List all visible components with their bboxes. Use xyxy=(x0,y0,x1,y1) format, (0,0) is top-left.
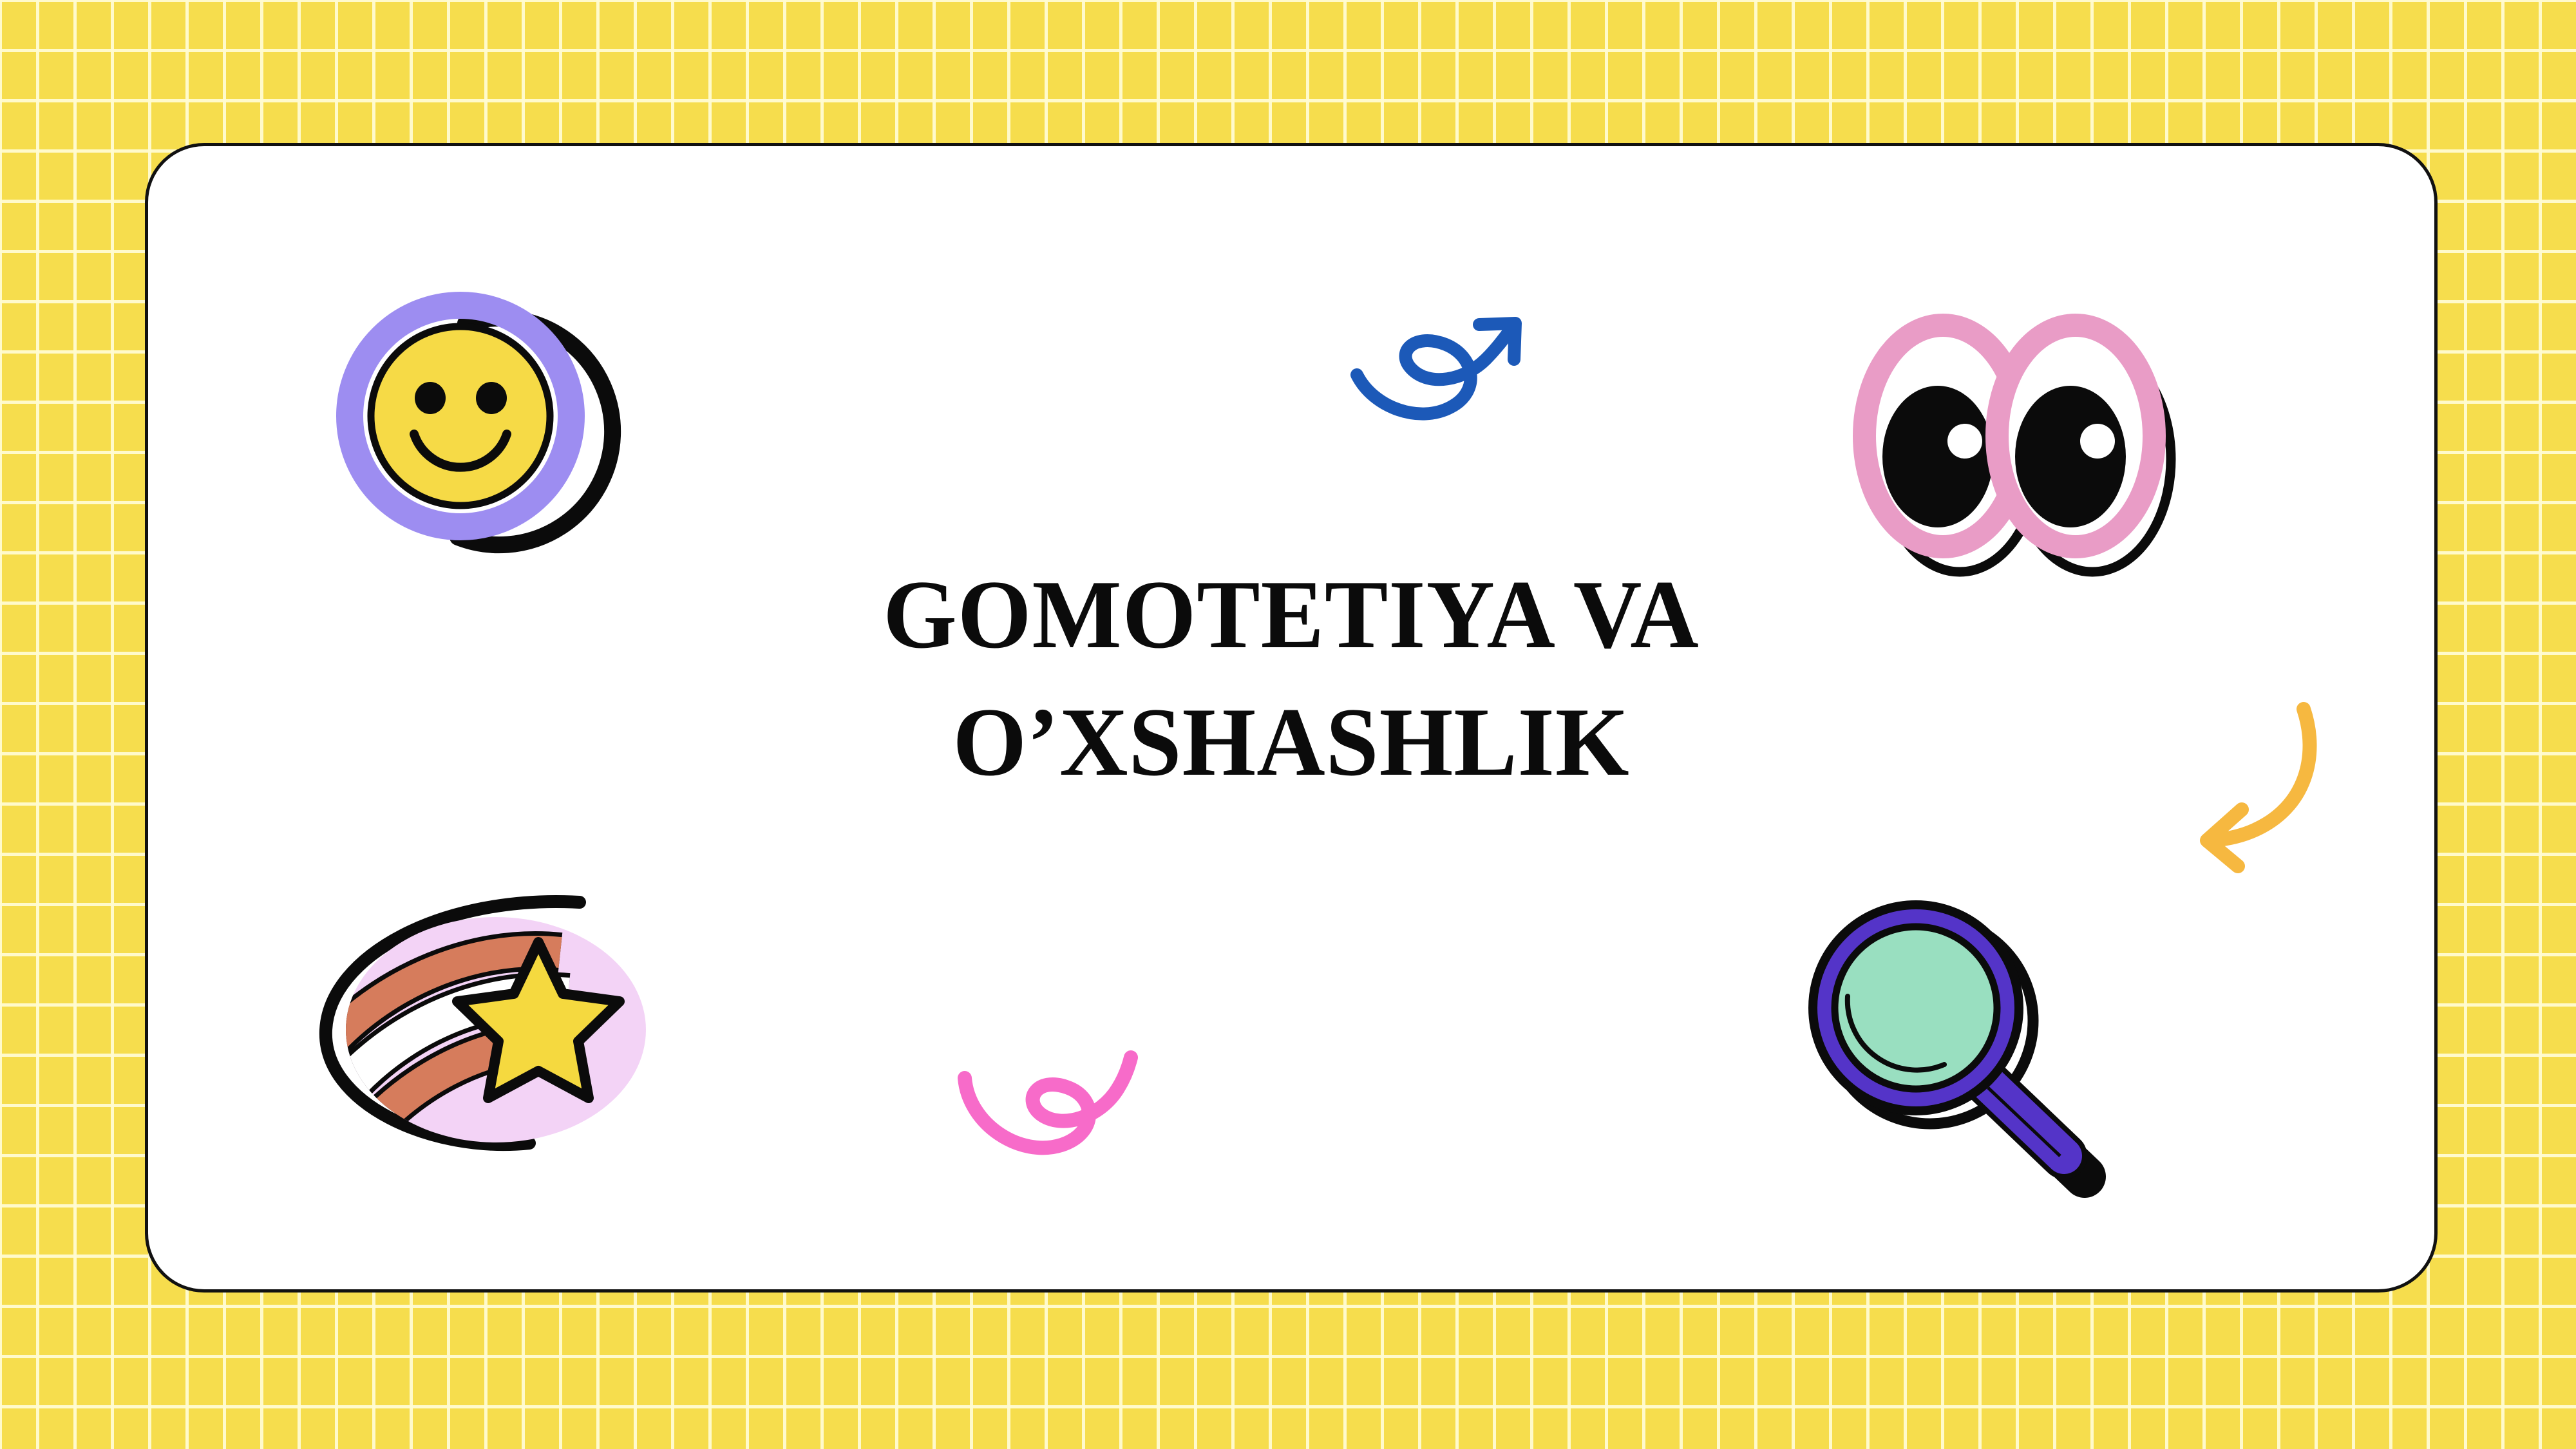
magnifier-lens xyxy=(1835,927,1997,1089)
slide-card: GOMOTETIYA VA O’XSHASHLIK xyxy=(145,143,2438,1293)
magnifying-glass-sticker xyxy=(1794,893,2128,1202)
eye-right xyxy=(1997,325,2154,547)
smiley-left-eye xyxy=(415,382,446,414)
blue-looping-arrow-icon xyxy=(1343,298,1536,433)
smiley-face-circle xyxy=(371,327,550,506)
shooting-star-sticker xyxy=(303,880,638,1151)
page-title: GOMOTETIYA VA O’XSHASHLIK xyxy=(148,551,2434,806)
magnifier-handle xyxy=(1979,1075,2064,1156)
pink-squiggle-loop-icon xyxy=(953,1038,1146,1167)
smiley-right-eye xyxy=(476,382,507,414)
smiley-face-sticker xyxy=(345,298,602,549)
slide-background: GOMOTETIYA VA O’XSHASHLIK xyxy=(0,0,2576,1449)
title-line-1: GOMOTETIYA VA xyxy=(182,551,2400,678)
cartoon-eyes-sticker xyxy=(1858,307,2193,578)
title-line-2: O’XSHASHLIK xyxy=(182,678,2400,806)
